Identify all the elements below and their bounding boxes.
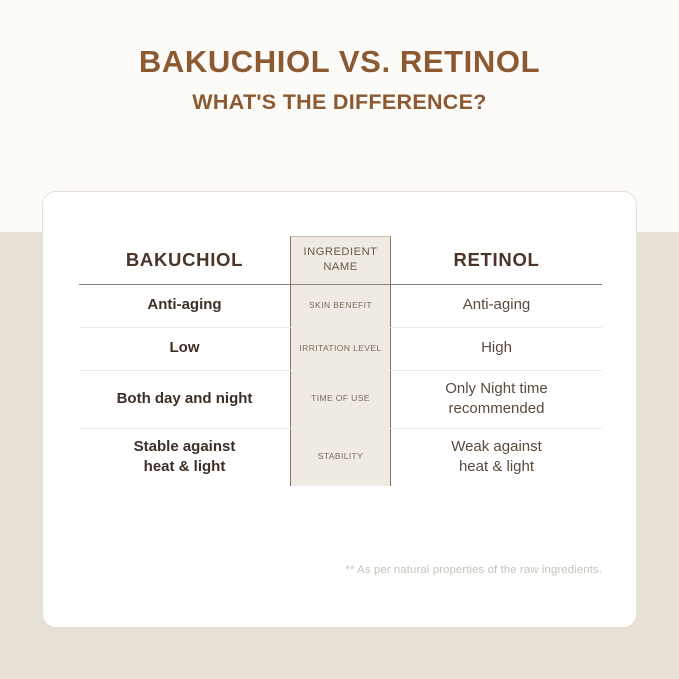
comparison-card: BAKUCHIOL INGREDIENT NAME RETINOL Anti-a… xyxy=(42,191,637,628)
cell-bakuchiol-stability-line2: heat & light xyxy=(134,457,236,477)
cell-bakuchiol-skin-benefit: Anti-aging xyxy=(79,284,290,327)
table-row: Anti-aging SKIN BENEFIT Anti-aging xyxy=(79,284,602,327)
table-row: Stable against heat & light STABILITY We… xyxy=(79,428,602,486)
cell-retinol-stability-line2: heat & light xyxy=(451,457,542,477)
table-row: Low IRRITATION LEVEL High xyxy=(79,327,602,370)
header-cell-bakuchiol: BAKUCHIOL xyxy=(79,236,290,284)
page-subtitle: WHAT'S THE DIFFERENCE? xyxy=(0,91,679,114)
comparison-table: BAKUCHIOL INGREDIENT NAME RETINOL Anti-a… xyxy=(79,236,602,486)
cell-retinol-stability-line1: Weak against xyxy=(451,437,542,457)
cell-bakuchiol-irritation-level: Low xyxy=(79,327,290,370)
cell-retinol-skin-benefit: Anti-aging xyxy=(391,284,602,327)
cell-bakuchiol-stability-line1: Stable against xyxy=(134,437,236,457)
header-cell-ingredient-name: INGREDIENT NAME xyxy=(290,236,391,284)
cell-retinol-irritation-level: High xyxy=(391,327,602,370)
header-ingredient-line2: NAME xyxy=(304,260,378,275)
cell-attribute-stability: STABILITY xyxy=(290,428,391,486)
cell-attribute-skin-benefit: SKIN BENEFIT xyxy=(290,284,391,327)
cell-bakuchiol-time-of-use: Both day and night xyxy=(79,370,290,428)
infographic-page: BAKUCHIOL VS. RETINOL WHAT'S THE DIFFERE… xyxy=(0,0,679,679)
cell-retinol-time-of-use-line1: Only Night time xyxy=(445,379,548,399)
table-row: Both day and night TIME OF USE Only Nigh… xyxy=(79,370,602,428)
cell-bakuchiol-stability: Stable against heat & light xyxy=(79,428,290,486)
footnote-text: ** As per natural properties of the raw … xyxy=(43,564,602,576)
header-ingredient-line1: INGREDIENT xyxy=(304,245,378,260)
cell-retinol-stability: Weak against heat & light xyxy=(391,428,602,486)
page-title: BAKUCHIOL VS. RETINOL xyxy=(0,46,679,79)
heading-block: BAKUCHIOL VS. RETINOL WHAT'S THE DIFFERE… xyxy=(0,0,679,113)
cell-attribute-irritation-level: IRRITATION LEVEL xyxy=(290,327,391,370)
cell-attribute-time-of-use: TIME OF USE xyxy=(290,370,391,428)
cell-retinol-time-of-use-line2: recommended xyxy=(445,399,548,419)
table-header-row: BAKUCHIOL INGREDIENT NAME RETINOL xyxy=(79,236,602,284)
header-cell-retinol: RETINOL xyxy=(391,236,602,284)
cell-retinol-time-of-use: Only Night time recommended xyxy=(391,370,602,428)
